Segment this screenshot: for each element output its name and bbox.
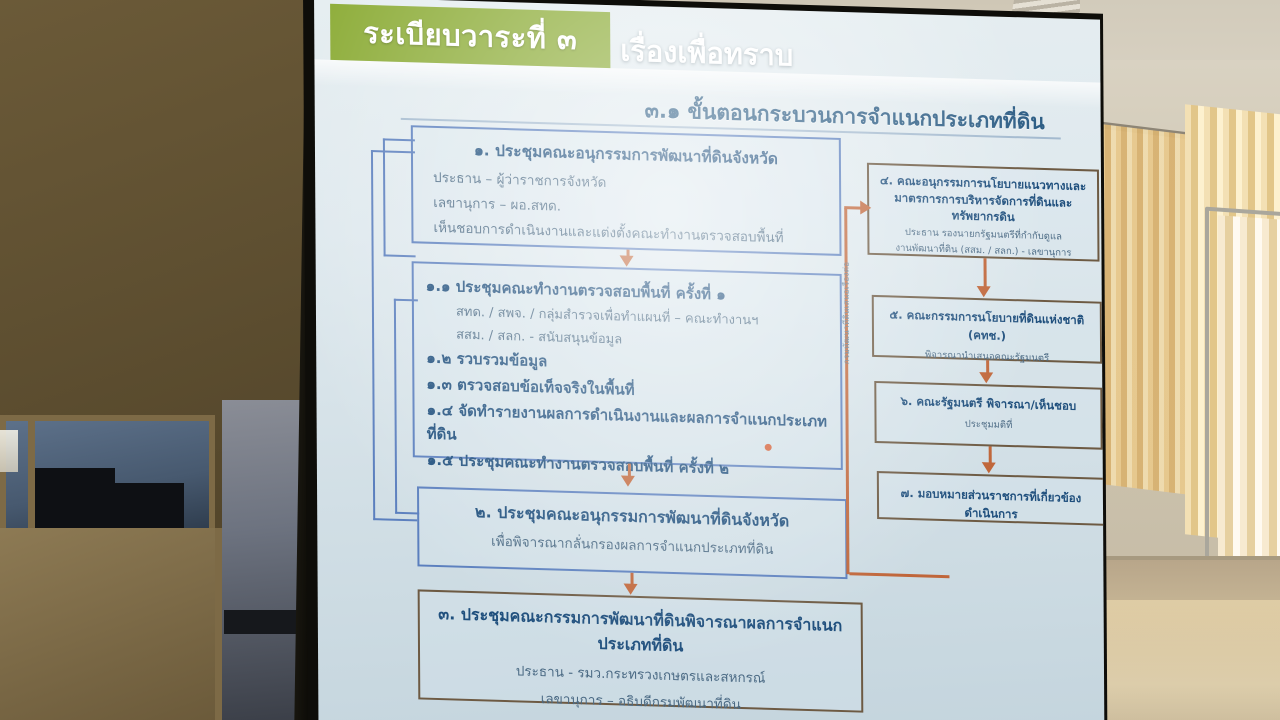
wall-lamp-icon bbox=[0, 430, 18, 472]
arrow-5-6-icon bbox=[977, 286, 991, 297]
flow-box-4-heading: ๓. ประชุมคณะกรรมการพัฒนาที่ดินพิจารณาผลก… bbox=[432, 602, 849, 664]
flow-box-7-heading: ๖. คณะรัฐมนตรี พิจารณา/เห็นชอบ bbox=[884, 392, 1092, 416]
laser-pointer-dot-icon bbox=[765, 444, 772, 451]
flow-box-3: ๒. ประชุมคณะอนุกรรมการพัฒนาที่ดินจังหวัด… bbox=[417, 486, 847, 579]
slide-surface: ระเบียบวาระที่ ๓ เรื่องเพื่อทราบ ๓.๑ ขั้… bbox=[314, 0, 1104, 720]
screenshot-root: ระเบียบวาระที่ ๓ เรื่องเพื่อทราบ ๓.๑ ขั้… bbox=[0, 0, 1280, 720]
agenda-badge: ระเบียบวาระที่ ๓ bbox=[330, 4, 610, 68]
glass-mullion bbox=[28, 418, 35, 533]
bracket-loop-inner bbox=[394, 299, 419, 515]
flow-box-6-heading: ๕. คณะกรรมการนโยบายที่ดินแห่งชาติ (คทช.) bbox=[882, 306, 1092, 348]
flow-box-5: ๔. คณะอนุกรรมการนโยบายแนวทางและมาตรการกา… bbox=[867, 163, 1100, 262]
flow-box-5-heading: ๔. คณะอนุกรรมการนโยบายแนวทางและมาตรการกา… bbox=[877, 172, 1089, 228]
flow-box-8: ๗. มอบหมายส่วนราชการที่เกี่ยวข้องดำเนินก… bbox=[877, 471, 1105, 526]
arrow-3-4-icon bbox=[624, 584, 638, 595]
connector-left-to-right-bottom bbox=[849, 572, 949, 578]
agenda-subject: เรื่องเพื่อทราบ bbox=[620, 27, 793, 78]
arrow-2-3-icon bbox=[621, 475, 635, 486]
projection-screen: ระเบียบวาระที่ ๓ เรื่องเพื่อทราบ ๓.๑ ขั้… bbox=[303, 0, 1108, 720]
flow-box-7: ๖. คณะรัฐมนตรี พิจารณา/เห็นชอบ ประชุมมติ… bbox=[874, 381, 1102, 450]
arrow-1-2-icon bbox=[620, 255, 634, 266]
flow-box-4: ๓. ประชุมคณะกรรมการพัฒนาที่ดินพิจารณาผลก… bbox=[418, 589, 864, 712]
arrow-7-8-icon bbox=[982, 462, 996, 473]
flow-box-8-heading: ๗. มอบหมายส่วนราชการที่เกี่ยวข้องดำเนินก… bbox=[887, 484, 1095, 526]
flow-box-1: ๑. ประชุมคณะอนุกรรมการพัฒนาที่ดินจังหวัด… bbox=[411, 125, 842, 256]
flow-box-7-line-1: ประชุมมติที่ bbox=[884, 414, 1092, 435]
flow-box-2: ๑.๑ ประชุมคณะทำงานตรวจสอบพื้นที่ ครั้งที… bbox=[412, 261, 843, 470]
arrow-6-7-icon bbox=[979, 372, 993, 383]
partition-panel-lower bbox=[0, 528, 222, 720]
floor-reflection bbox=[1080, 600, 1280, 720]
glass-reflection-shape-2 bbox=[112, 483, 184, 531]
flow-box-6: ๕. คณะกรรมการนโยบายที่ดินแห่งชาติ (คทช.)… bbox=[872, 295, 1102, 364]
arrow-into-box5-icon bbox=[860, 201, 871, 215]
agenda-badge-label: ระเบียบวาระที่ ๓ bbox=[363, 10, 577, 62]
connector-vertical-label: กรมพัฒนาที่ดินเสนอเรื่องต่อ bbox=[840, 261, 854, 364]
glass-reflection-shape bbox=[35, 468, 115, 530]
